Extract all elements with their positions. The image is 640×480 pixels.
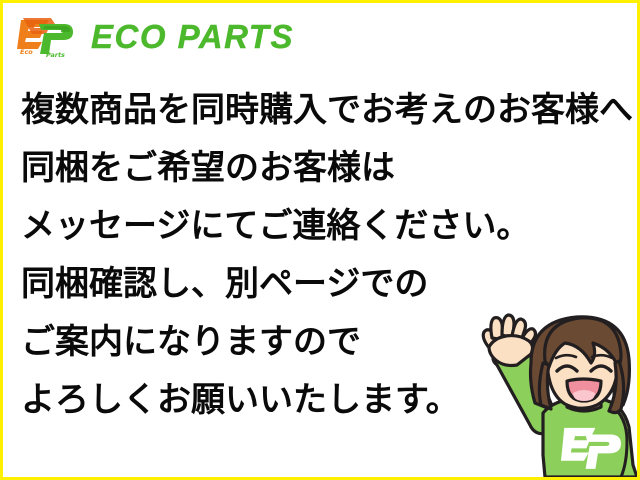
logo-sub-eco: Eco [20,48,33,56]
brand-header: Eco Parts ECO PARTS [15,12,294,60]
mascot-hand [483,315,535,366]
message-line-2: 同梱をご希望のお客様は [21,139,625,197]
message-line-3: メッセージにてご連絡ください。 [21,197,625,255]
message-line-1: 複数商品を同時購入でお考えのお客様へ [21,81,625,139]
mascot-waving-girl-illustration [461,305,640,480]
logo-sub-parts: Parts [46,51,65,58]
eco-parts-banner: Eco Parts ECO PARTS 複数商品を同時購入でお考えのお客様へ 同… [0,0,640,480]
eco-parts-logo-icon: Eco Parts [15,14,77,58]
brand-wordmark: ECO PARTS [91,20,294,53]
mascot-mouth [567,379,601,401]
